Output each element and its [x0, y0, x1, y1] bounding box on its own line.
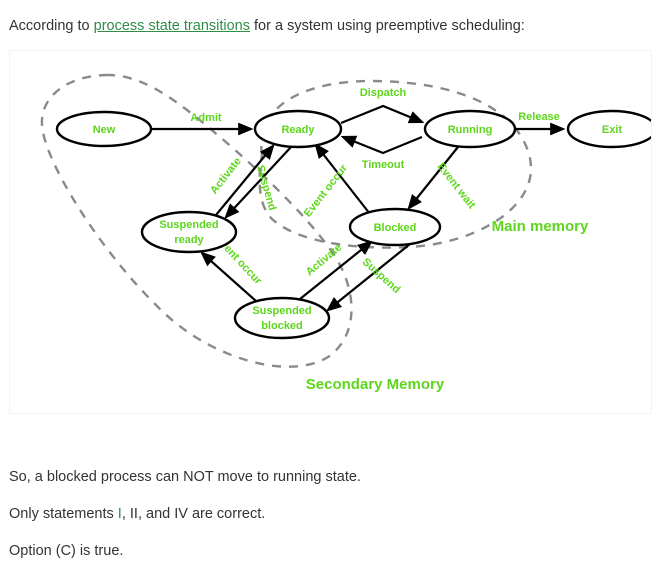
edge-label-activate-suspendedblocked-blocked: Activate — [304, 242, 344, 279]
conclusion-line-3: Option (C) is true. — [9, 541, 123, 561]
state-node-ready[interactable]: Ready — [255, 111, 341, 147]
edge-label-dispatch: Dispatch — [360, 87, 407, 99]
state-node-exit[interactable]: Exit — [568, 111, 651, 147]
edge-label-event-occur-blocked-ready: Event occur — [302, 162, 351, 220]
state-node-suspended-blocked-label-line1: Suspended — [252, 305, 311, 317]
state-node-blocked[interactable]: Blocked — [350, 209, 440, 245]
intro-prefix: According to — [9, 18, 94, 34]
state-node-suspended-ready-label-line1: Suspended — [159, 219, 218, 231]
edge-running-to-ready — [343, 137, 422, 153]
state-node-running[interactable]: Running — [425, 111, 515, 147]
diagram-figure-container: Admit Dispatch Timeout Release Event wai… — [9, 50, 652, 414]
state-node-suspended-blocked[interactable]: Suspended blocked — [235, 298, 329, 338]
intro-suffix: for a system using preemptive scheduling… — [250, 18, 525, 34]
region-label-secondary-memory: Secondary Memory — [306, 376, 445, 393]
state-node-ready-label: Ready — [281, 124, 315, 136]
state-node-suspended-ready[interactable]: Suspended ready — [142, 212, 236, 252]
edge-label-timeout: Timeout — [362, 159, 405, 171]
state-node-suspended-blocked-label-line2: blocked — [261, 320, 303, 332]
edge-label-suspend-blocked-suspendedblocked: Suspend — [360, 256, 403, 296]
edge-label-admit: Admit — [190, 112, 222, 124]
state-node-running-label: Running — [448, 124, 493, 136]
conclusion-line-2-prefix: Only statements — [9, 506, 118, 522]
state-node-new-label: New — [93, 124, 116, 136]
edge-label-activate-suspendedready-ready: Activate — [208, 155, 244, 196]
state-node-blocked-label: Blocked — [374, 222, 417, 234]
process-state-transitions-link[interactable]: process state transitions — [94, 18, 250, 34]
state-node-suspended-ready-label-line2: ready — [174, 234, 204, 246]
conclusion-line-2-rest: , II, and IV are correct. — [122, 506, 265, 522]
edge-ready-to-running — [341, 106, 422, 123]
edge-label-event-wait: Event wait — [435, 161, 478, 212]
conclusion-line-2: Only statements I, II, and IV are correc… — [9, 504, 265, 524]
state-node-exit-label: Exit — [602, 124, 623, 136]
region-label-main-memory: Main memory — [492, 218, 589, 235]
process-state-diagram-svg: Admit Dispatch Timeout Release Event wai… — [10, 51, 651, 413]
edge-blocked-to-ready — [316, 145, 370, 214]
edge-label-release: Release — [518, 111, 560, 123]
conclusion-line-1: So, a blocked process can NOT move to ru… — [9, 467, 361, 487]
answer-explanation-page: According to process state transitions f… — [0, 0, 668, 576]
intro-sentence: According to process state transitions f… — [9, 16, 525, 36]
state-node-new[interactable]: New — [57, 112, 151, 146]
